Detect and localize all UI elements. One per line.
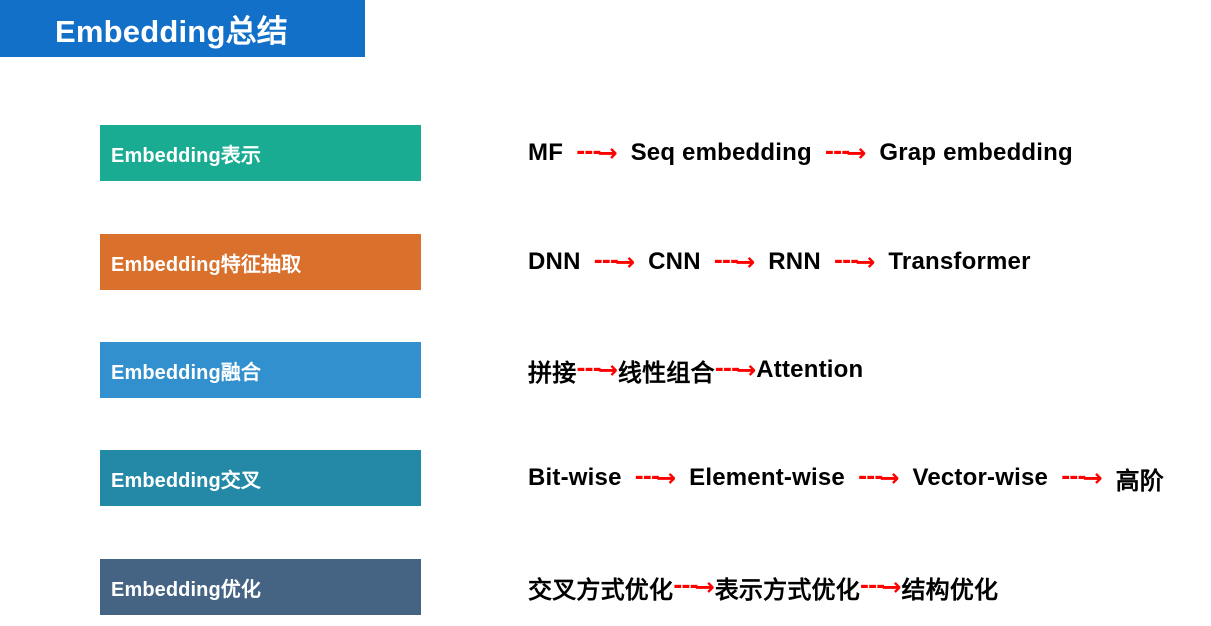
arrow-head: → (597, 141, 617, 165)
arrow-head: → (656, 466, 676, 490)
arrow-icon: ---→ (673, 575, 715, 599)
arrow-icon: ---→ (858, 466, 900, 490)
diagram-row: Embedding表示MF---→Seq embedding---→Grap e… (0, 125, 1211, 181)
flow-node: 拼接 (528, 353, 576, 388)
arrow-icon: ---→ (825, 141, 867, 165)
flow-node: 高阶 (1116, 461, 1164, 496)
arrow-head: → (615, 250, 635, 274)
arrow-head: → (695, 575, 715, 599)
flow-node: 表示方式优化 (715, 570, 860, 605)
slide-title: Embedding总结 (55, 6, 288, 51)
arrow-icon: ---→ (635, 466, 677, 490)
arrow-icon: ---→ (1061, 466, 1103, 490)
flow-node: Transformer (888, 248, 1030, 276)
arrow-icon: ---→ (714, 250, 756, 274)
flow-node: MF (528, 139, 563, 167)
diagram-row: Embedding交叉Bit-wise---→Element-wise---→V… (0, 450, 1211, 506)
flow-sequence: MF---→Seq embedding---→Grap embedding (528, 125, 1073, 181)
category-bar[interactable]: Embedding优化 (100, 559, 421, 615)
arrow-icon: ---→ (834, 250, 876, 274)
flow-sequence: DNN---→CNN---→RNN---→Transformer (528, 234, 1031, 290)
arrow-head: → (1082, 466, 1102, 490)
category-bar[interactable]: Embedding交叉 (100, 450, 421, 506)
flow-node: RNN (768, 248, 821, 276)
flow-node: 线性组合 (618, 353, 715, 388)
arrow-icon: ---→ (576, 358, 618, 382)
flow-node: 交叉方式优化 (528, 570, 673, 605)
category-bar[interactable]: Embedding特征抽取 (100, 234, 421, 290)
arrow-icon: ---→ (594, 250, 636, 274)
diagram-row: Embedding特征抽取DNN---→CNN---→RNN---→Transf… (0, 234, 1211, 290)
category-label: Embedding表示 (111, 139, 261, 168)
arrow-icon: ---→ (860, 575, 902, 599)
flow-sequence: Bit-wise---→Element-wise---→Vector-wise-… (528, 450, 1164, 506)
diagram-row: Embedding融合拼接---→线性组合---→Attention (0, 342, 1211, 398)
flow-node: Element-wise (689, 464, 845, 492)
flow-node: Attention (756, 356, 863, 384)
arrow-head: → (598, 358, 618, 382)
flow-node: CNN (648, 248, 701, 276)
category-bar[interactable]: Embedding表示 (100, 125, 421, 181)
flow-node: Grap embedding (879, 139, 1073, 167)
category-label: Embedding优化 (111, 573, 261, 602)
flow-sequence: 拼接---→线性组合---→Attention (528, 342, 863, 398)
category-label: Embedding特征抽取 (111, 248, 301, 277)
arrow-head: → (736, 358, 756, 382)
arrow-icon: ---→ (715, 358, 757, 382)
flow-sequence: 交叉方式优化---→表示方式优化---→结构优化 (528, 559, 998, 615)
flow-node: Seq embedding (631, 139, 812, 167)
arrow-head: → (879, 466, 899, 490)
flow-node: Vector-wise (912, 464, 1048, 492)
category-bar[interactable]: Embedding融合 (100, 342, 421, 398)
flow-node: Bit-wise (528, 464, 622, 492)
category-label: Embedding交叉 (111, 464, 261, 493)
slide-title-banner: Embedding总结 (0, 0, 365, 57)
arrow-icon: ---→ (576, 141, 618, 165)
arrow-head: → (735, 250, 755, 274)
category-label: Embedding融合 (111, 356, 261, 385)
arrow-head: → (846, 141, 866, 165)
diagram-row: Embedding优化交叉方式优化---→表示方式优化---→结构优化 (0, 559, 1211, 615)
flow-node: 结构优化 (901, 570, 998, 605)
arrow-head: → (855, 250, 875, 274)
arrow-head: → (881, 575, 901, 599)
flow-node: DNN (528, 248, 581, 276)
